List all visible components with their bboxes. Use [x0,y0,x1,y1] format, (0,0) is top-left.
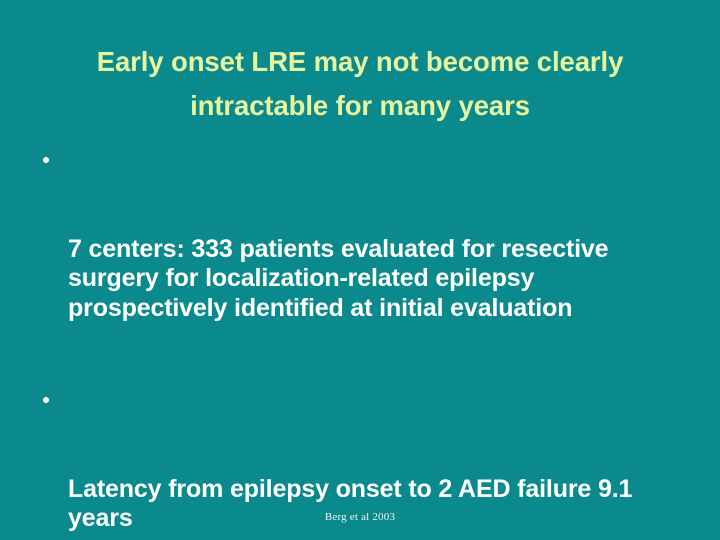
slide-title: Early onset LRE may not become clearly i… [40,46,680,121]
bullet-dot-icon [43,157,49,163]
slide-canvas: Early onset LRE may not become clearly i… [0,0,720,540]
slide-footer: Berg et al 2003 [0,507,720,525]
bullet-dot-icon [43,397,49,403]
bullet-list: 7 centers: 333 patients evaluated for re… [38,146,688,540]
title-emphasis-word: intractable [190,90,328,121]
title-line-2-rest: for many years [328,90,530,121]
citation-text: Berg et al 2003 [325,511,395,523]
list-item: 7 centers: 333 patients evaluated for re… [38,146,688,382]
title-line-1: Early onset LRE may not become clearly [40,46,680,77]
title-line-2: intractable for many years [40,90,680,121]
list-item-text: 7 centers: 333 patients evaluated for re… [68,235,688,324]
